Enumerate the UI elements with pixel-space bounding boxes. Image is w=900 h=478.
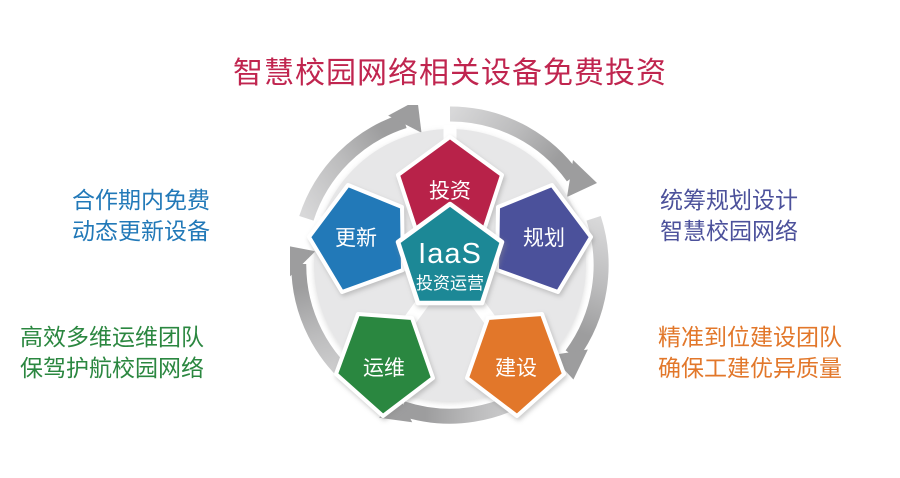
- cycle-diagram: 投资 规划 建设 运维 更新 IaaS 投资运营: [290, 105, 610, 425]
- caption-update-line2: 动态更新设备: [72, 216, 210, 247]
- caption-ops: 高效多维运维团队 保驾护航校园网络: [20, 322, 204, 383]
- caption-build: 精准到位建设团队 确保工建优异质量: [658, 322, 842, 383]
- node-ops-label: 运维: [363, 357, 405, 380]
- caption-build-line1: 精准到位建设团队: [658, 322, 842, 353]
- caption-build-line2: 确保工建优异质量: [658, 353, 842, 384]
- core-label-en: IaaS: [418, 238, 482, 270]
- caption-ops-line1: 高效多维运维团队: [20, 322, 204, 353]
- page-title: 智慧校园网络相关设备免费投资: [0, 48, 900, 92]
- caption-plan-line2: 智慧校园网络: [660, 216, 798, 247]
- caption-plan: 统筹规划设计 智慧校园网络: [660, 185, 798, 246]
- node-invest-label: 投资: [429, 180, 471, 203]
- caption-update: 合作期内免费 动态更新设备: [72, 185, 210, 246]
- core-label-cn: 投资运营: [416, 274, 484, 293]
- node-plan-label: 规划: [523, 227, 565, 250]
- caption-ops-line2: 保驾护航校园网络: [20, 353, 204, 384]
- caption-plan-line1: 统筹规划设计: [660, 185, 798, 216]
- caption-update-line1: 合作期内免费: [72, 185, 210, 216]
- node-update-label: 更新: [335, 227, 377, 250]
- node-build-label: 建设: [495, 357, 537, 380]
